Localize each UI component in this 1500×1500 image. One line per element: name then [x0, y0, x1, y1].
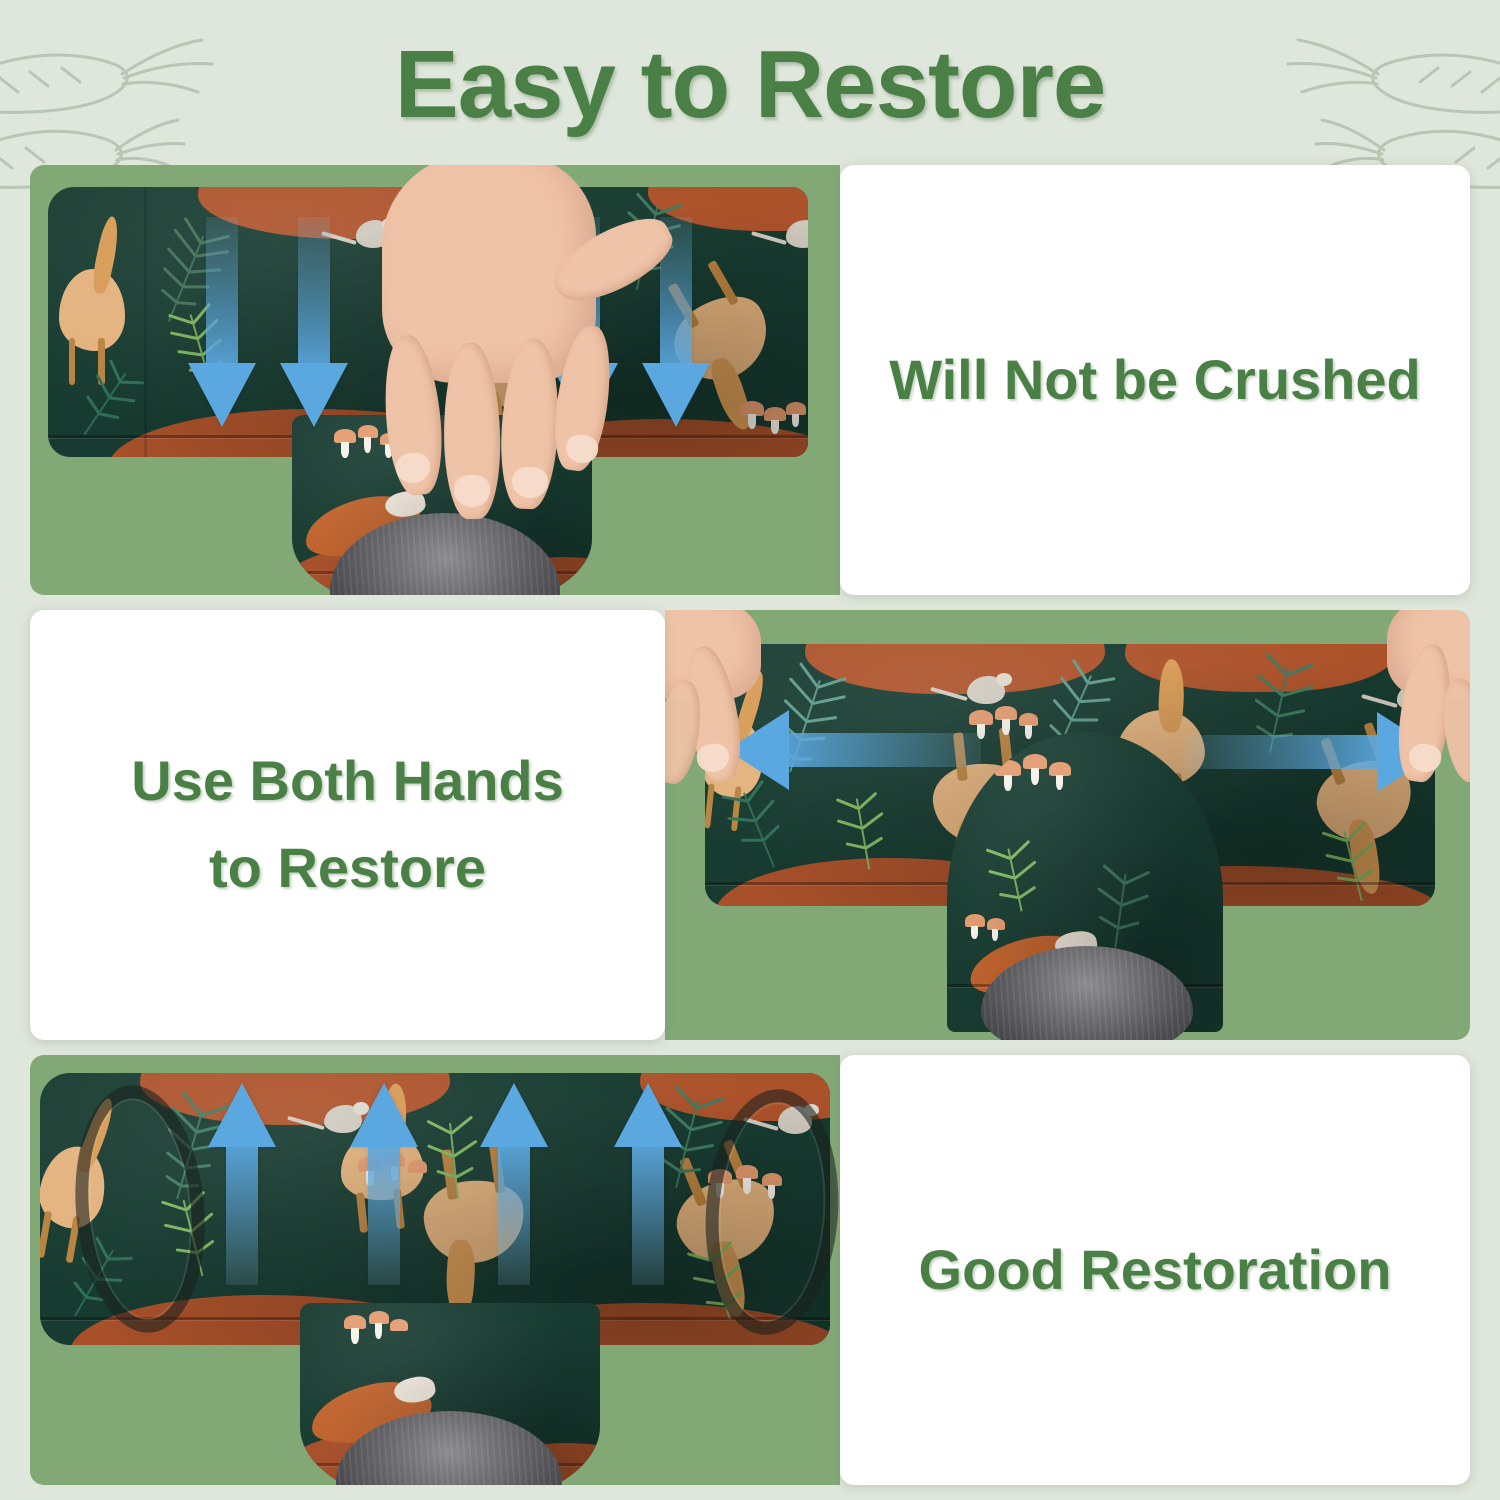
tunnel-pressed-flat-photo — [30, 165, 840, 595]
fabric-motif-bird — [774, 215, 808, 259]
fabric-motif-fern — [157, 305, 245, 397]
fabric-motif-mushroom — [358, 1153, 436, 1193]
fabric-motif-fern — [823, 793, 902, 876]
fabric-motif-bird — [1385, 678, 1435, 722]
tunnel-restored-photo — [30, 1055, 840, 1485]
fabric-motif-fern — [1309, 822, 1396, 906]
tunnel-pulled-open-photo — [665, 610, 1470, 1040]
fabric-motif-fern — [599, 197, 695, 299]
feature-row-3: Good Restoration — [30, 1055, 1470, 1485]
fabric-motif-fern — [971, 841, 1059, 919]
fabric-motif-mushroom — [969, 706, 1047, 748]
fabric-motif-fern — [1231, 659, 1328, 762]
fabric-motif-fern — [419, 234, 501, 317]
caption-text-line-2: to Restore — [209, 825, 486, 912]
caption-text: Good Restoration — [919, 1227, 1392, 1314]
fabric-motif-deer — [641, 267, 808, 457]
page-title: Easy to Restore — [0, 20, 1500, 150]
fabric-motif-fern — [412, 1119, 496, 1203]
fabric-motif-fern — [57, 355, 153, 453]
feature-row-1: Will Not be Crushed — [30, 165, 1470, 595]
feature-row-2: Use Both Hands to Restore — [30, 610, 1470, 1040]
caption-panel-use-both-hands: Use Both Hands to Restore — [30, 610, 665, 1040]
fabric-motif-deer — [325, 1073, 442, 1216]
caption-panel-good-restoration: Good Restoration — [840, 1055, 1470, 1485]
fabric-motif-mushroom — [965, 912, 1025, 946]
fabric-motif-deer — [705, 657, 783, 814]
caption-text: Will Not be Crushed — [889, 337, 1421, 424]
fabric-motif-bird — [955, 670, 1017, 716]
fabric-motif-mushroom — [334, 425, 410, 465]
fabric-motif-fern — [711, 779, 808, 880]
fabric-motif-mushroom — [995, 754, 1091, 798]
fabric-motif-bird — [312, 1099, 374, 1145]
caption-text-line-1: Use Both Hands — [131, 738, 564, 825]
page-title-text: Easy to Restore — [395, 37, 1106, 133]
fabric-motif-fern — [750, 667, 860, 784]
fabric-motif-deer — [1287, 734, 1435, 906]
fabric-motif-deer — [54, 207, 136, 363]
fabric-motif-bird — [344, 215, 402, 259]
fabric-motif-mushroom — [344, 1311, 422, 1351]
caption-panel-will-not-be-crushed: Will Not be Crushed — [840, 165, 1470, 595]
